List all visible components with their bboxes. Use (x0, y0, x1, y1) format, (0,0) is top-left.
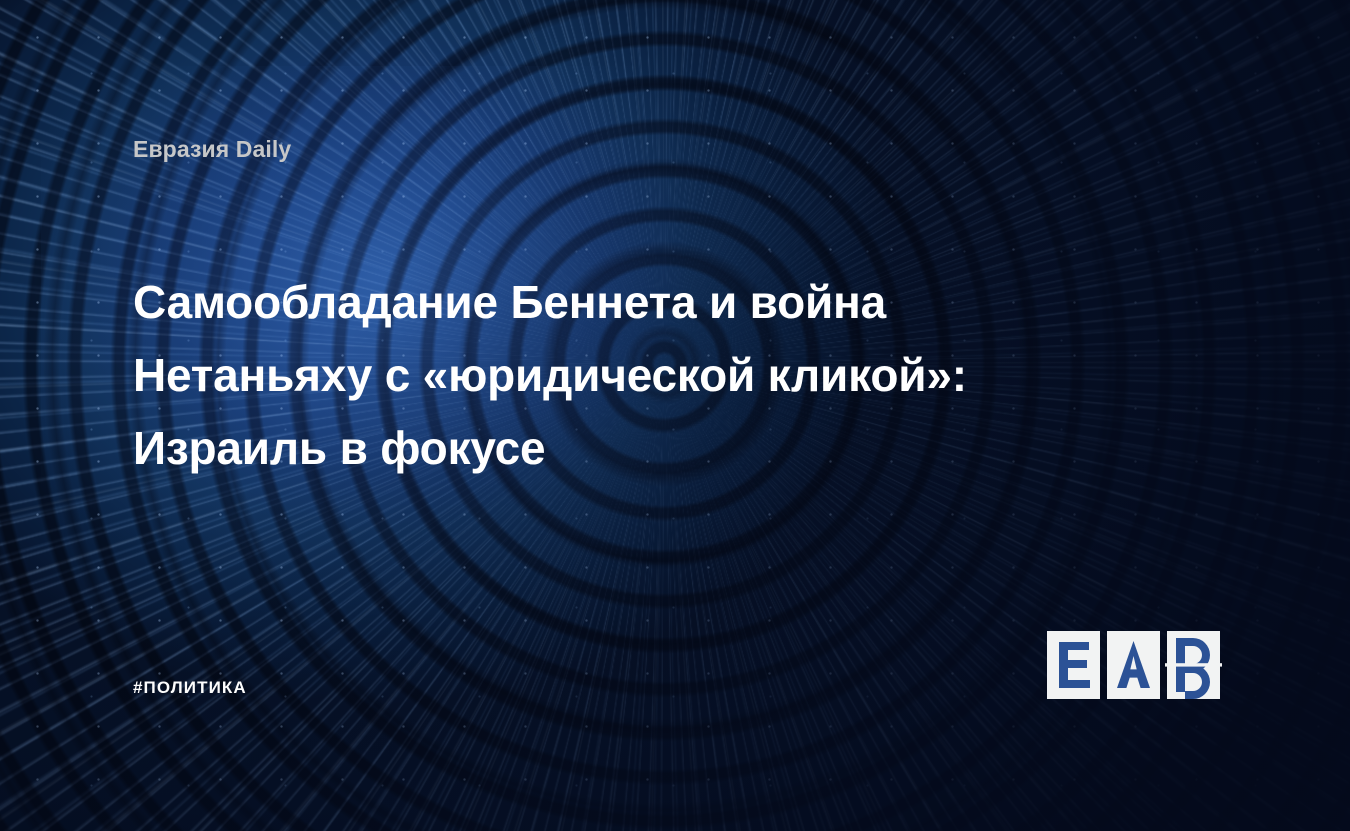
article-headline: Самообладание Беннета и война Нетаньяху … (133, 266, 1173, 485)
headline-line: Самообладание Беннета и война (133, 266, 1173, 339)
category-hashtag[interactable]: #ПОЛИТИКА (133, 678, 247, 698)
headline-line: Нетаньяху с «юридической кликой»: (133, 339, 1173, 412)
eadaily-logo (1047, 631, 1225, 699)
logo-tile-a-icon (1107, 631, 1160, 699)
logo-tile-e-icon (1047, 631, 1100, 699)
card-content: Евразия Daily Самообладание Беннета и во… (0, 0, 1350, 831)
brand-name: Евразия Daily (133, 136, 291, 163)
headline-line: Израиль в фокусе (133, 412, 1173, 485)
logo-tile-d (1167, 631, 1220, 699)
logo-tile-e (1047, 631, 1100, 699)
logo-tile-a (1107, 631, 1160, 699)
social-share-card: Евразия Daily Самообладание Беннета и во… (0, 0, 1350, 831)
logo-tile-d-icon (1167, 631, 1220, 699)
